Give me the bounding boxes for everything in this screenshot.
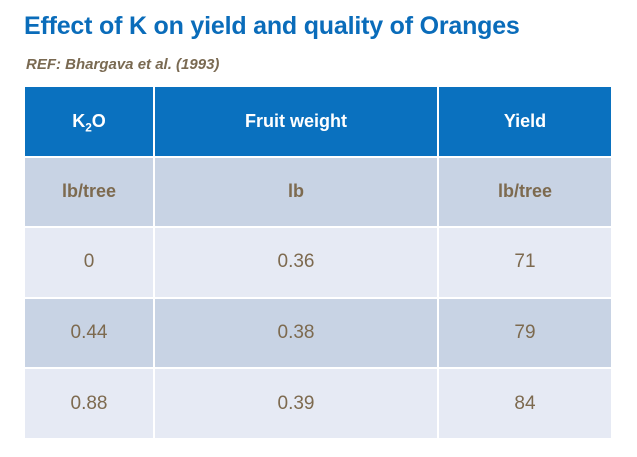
table-units-row: lb/tree lb lb/tree <box>25 158 611 227</box>
cell-fruit-weight: 0.36 <box>155 228 437 297</box>
cell-k2o: 0.88 <box>25 369 153 438</box>
header-cell-fruit-weight: Fruit weight <box>155 87 437 156</box>
header-label-k2o: K2O <box>72 111 106 132</box>
slide-canvas: Effect of K on yield and quality of Oran… <box>0 0 637 457</box>
table-header-row: K2O Fruit weight Yield <box>25 87 611 156</box>
units-cell-yield: lb/tree <box>439 158 611 227</box>
header-label-yield: Yield <box>504 111 546 132</box>
data-table: K2O Fruit weight Yield lb/tree lb lb/tre… <box>25 87 611 438</box>
cell-fruit-weight: 0.39 <box>155 369 437 438</box>
cell-fruit-weight: 0.38 <box>155 299 437 368</box>
units-cell-fruit-weight: lb <box>155 158 437 227</box>
reference-citation: REF: Bhargava et al. (1993) <box>26 56 219 73</box>
cell-k2o: 0.44 <box>25 299 153 368</box>
header-cell-k2o: K2O <box>25 87 153 156</box>
header-cell-yield: Yield <box>439 87 611 156</box>
units-cell-k2o: lb/tree <box>25 158 153 227</box>
cell-yield: 79 <box>439 299 611 368</box>
table-row: 0.88 0.39 84 <box>25 369 611 438</box>
table-row: 0.44 0.38 79 <box>25 299 611 368</box>
header-label-fruit-weight: Fruit weight <box>245 111 347 132</box>
table-row: 0 0.36 71 <box>25 228 611 297</box>
cell-yield: 71 <box>439 228 611 297</box>
cell-yield: 84 <box>439 369 611 438</box>
page-title: Effect of K on yield and quality of Oran… <box>24 12 520 41</box>
cell-k2o: 0 <box>25 228 153 297</box>
